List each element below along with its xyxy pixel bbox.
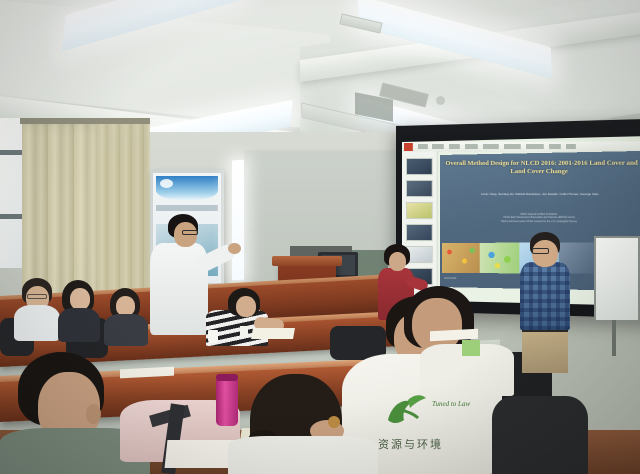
slide-thumbnail-1[interactable] xyxy=(406,158,433,175)
menu-item-slide-show[interactable] xyxy=(526,144,544,149)
attendee-3-head xyxy=(116,296,135,316)
menu-item-design[interactable] xyxy=(465,144,478,149)
poster-logo-icon xyxy=(160,179,173,188)
whiteboard xyxy=(594,236,640,322)
slide-thumbnail-2[interactable] xyxy=(406,180,433,197)
whiteboard-leg xyxy=(612,320,616,356)
attendee-2-body xyxy=(58,308,100,342)
slide-authors: Limin Yang, Suming Jin, Patrick Danielso… xyxy=(448,192,635,196)
glasses-icon xyxy=(182,230,198,235)
land-cover-map-1 xyxy=(442,243,480,273)
attendee-5-head xyxy=(236,296,256,317)
ceiling-smoke-detector-icon xyxy=(436,96,445,105)
tshirt-green-bird-logo-icon xyxy=(382,390,428,430)
attendee-1-body xyxy=(14,305,60,341)
menu-item-animations[interactable] xyxy=(504,144,521,149)
glasses-icon xyxy=(532,248,549,254)
tshirt-english-text: Tuned to Law xyxy=(432,400,470,408)
menu-item-transitions[interactable] xyxy=(483,144,499,149)
paper-cup-2 xyxy=(240,326,248,338)
slide-thumbnail-4[interactable] xyxy=(406,224,433,241)
menu-item-view[interactable] xyxy=(566,144,576,149)
seminar-room-photo: Overall Method Design for NLCD 2016: 200… xyxy=(0,0,640,474)
wristwatch xyxy=(328,416,340,428)
attendee-2-head xyxy=(70,288,90,310)
menu-item-home[interactable] xyxy=(432,144,444,149)
glasses-icon xyxy=(27,294,47,299)
menu-item-file[interactable] xyxy=(418,144,428,149)
attendee-3-body xyxy=(104,314,148,346)
slide-footer: NLCD 2016 xyxy=(444,277,456,280)
slide-affiliation: ASRC Federal InuMed Contractor USGS Eart… xyxy=(452,213,630,224)
paper-cup-1 xyxy=(208,330,218,343)
menu-item-insert[interactable] xyxy=(449,144,460,149)
notebook xyxy=(251,328,295,339)
powerpoint-logo-icon xyxy=(404,143,413,151)
pink-thermos-bottle xyxy=(216,378,238,426)
ponytail-attendee-body xyxy=(228,436,378,474)
presenter-trousers xyxy=(522,331,568,373)
podium-top xyxy=(272,256,342,266)
foreground-attendee-ear xyxy=(86,404,101,424)
slide-affiliation-line-3: Work performed under USGS contract for t… xyxy=(452,220,630,224)
slide-title: Overall Method Design for NLCD 2016: 200… xyxy=(444,160,640,177)
chair-foreground-right xyxy=(492,396,588,474)
lanyard-badge xyxy=(462,340,480,356)
land-cover-map-2 xyxy=(480,243,519,274)
tshirt-chinese-text: 资源与环境 xyxy=(378,436,443,452)
presenter-body xyxy=(520,262,570,330)
standing-attendee-red-head xyxy=(389,252,406,271)
slide-thumbnail-3[interactable] xyxy=(406,202,433,219)
poster-text-block xyxy=(156,205,218,211)
thermos-cap xyxy=(216,374,238,381)
menu-item-review[interactable] xyxy=(549,144,561,149)
curtain-rod xyxy=(20,118,150,124)
slide-thumbnail-5[interactable] xyxy=(406,246,433,263)
wall-strip-light xyxy=(232,160,244,280)
standing-questioner-hand xyxy=(228,243,241,254)
